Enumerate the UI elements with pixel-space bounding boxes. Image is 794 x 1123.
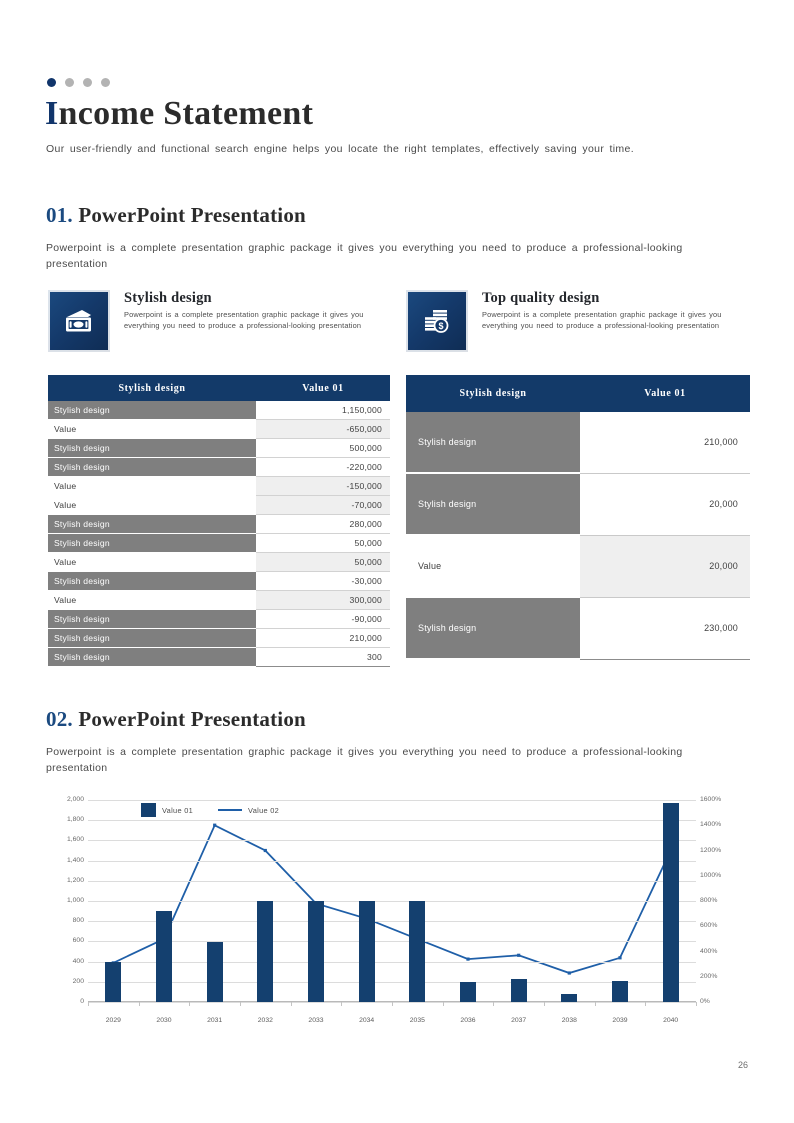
chart-bar (156, 911, 172, 1002)
table-row: Value-650,000 (48, 420, 390, 439)
chart-gridline (88, 800, 696, 801)
chart-y-tick-label: 1,400 (46, 857, 84, 864)
table-cell-label: Value (48, 477, 256, 496)
chart-y2-tick-label: 1000% (700, 872, 746, 879)
table-cell-value: 210,000 (580, 412, 750, 473)
chart-gridline (88, 962, 696, 963)
table-row: Stylish design280,000 (48, 515, 390, 534)
chart-y2-tick-label: 200% (700, 973, 746, 980)
feature-card-stylish-design: Stylish design Powerpoint is a complete … (48, 290, 393, 360)
progress-dot-2 (65, 78, 74, 87)
table-cell-label: Value (48, 496, 256, 515)
feature-card-left-body: Stylish design Powerpoint is a complete … (124, 290, 392, 331)
chart-x-tick-label: 2029 (88, 1017, 139, 1024)
chart-gridline (88, 982, 696, 983)
chart-line-marker (466, 958, 469, 961)
table-cell-value: 300 (256, 648, 390, 667)
chart-gridline (88, 941, 696, 942)
table-row: Stylish design230,000 (406, 597, 750, 659)
chart-x-tick-label: 2035 (392, 1017, 443, 1024)
table-cell-label: Stylish design (48, 629, 256, 648)
chart-y-tick-label: 1,200 (46, 877, 84, 884)
table-cell-value: -650,000 (256, 420, 390, 439)
chart-line-marker (264, 849, 267, 852)
chart-x-tick-label: 2036 (443, 1017, 494, 1024)
chart-y-tick-label: 2,000 (46, 796, 84, 803)
table-cell-value: -30,000 (256, 572, 390, 591)
table-cell-label: Value (48, 420, 256, 439)
page-subtitle: Our user-friendly and functional search … (46, 143, 746, 155)
chart-x-tickmark (139, 1002, 140, 1006)
chart-y-tick-label: 1,000 (46, 897, 84, 904)
chart-x-tick-label: 2031 (189, 1017, 240, 1024)
progress-dot-4 (101, 78, 110, 87)
chart-gridline (88, 921, 696, 922)
chart-x-tickmark (189, 1002, 190, 1006)
chart-y-tick-label: 1,800 (46, 816, 84, 823)
combo-chart: Value 01 Value 02 02004006008001,0001,20… (46, 795, 746, 1030)
chart-y2-tick-label: 1600% (700, 796, 746, 803)
chart-x-tick-label: 2038 (544, 1017, 595, 1024)
table-right-header-row: Stylish design Value 01 (406, 375, 750, 412)
table-right-header-label: Stylish design (406, 375, 580, 412)
table-row: Stylish design300 (48, 648, 390, 667)
chart-bar (663, 803, 679, 1002)
chart-y2-tick-label: 1400% (700, 821, 746, 828)
table-left-header-row: Stylish design Value 01 (48, 375, 390, 401)
table-row: Value300,000 (48, 591, 390, 610)
chart-gridline (88, 861, 696, 862)
table-row: Stylish design1,150,000 (48, 401, 390, 420)
chart-bar (612, 981, 628, 1002)
chart-x-tickmark (696, 1002, 697, 1006)
progress-dot-1 (47, 78, 56, 87)
table-cell-value: 50,000 (256, 553, 390, 572)
chart-x-tick-label: 2037 (493, 1017, 544, 1024)
chart-x-tickmark (341, 1002, 342, 1006)
chart-x-tickmark (240, 1002, 241, 1006)
table-cell-label: Stylish design (48, 401, 256, 420)
chart-x-tick-label: 2034 (341, 1017, 392, 1024)
table-row: Stylish design500,000 (48, 439, 390, 458)
table-row: Stylish design-30,000 (48, 572, 390, 591)
table-row: Stylish design50,000 (48, 534, 390, 553)
chart-y-tick-label: 600 (46, 937, 84, 944)
chart-x-tickmark (443, 1002, 444, 1006)
table-cell-value: 300,000 (256, 591, 390, 610)
chart-x-tick-label: 2032 (240, 1017, 291, 1024)
section-01-number: 01. (46, 203, 73, 227)
chart-y-tick-label: 800 (46, 917, 84, 924)
feature-card-top-quality-design: $ Top quality design Powerpoint is a com… (406, 290, 751, 360)
table-cell-value: 20,000 (580, 473, 750, 535)
chart-y2-tick-label: 1200% (700, 847, 746, 854)
chart-gridline (88, 840, 696, 841)
chart-y2-tick-label: 800% (700, 897, 746, 904)
table-cell-label: Stylish design (48, 458, 256, 477)
table-row: Stylish design210,000 (406, 412, 750, 473)
chart-y-tick-label: 400 (46, 958, 84, 965)
table-cell-label: Stylish design (48, 610, 256, 629)
section-02-title: PowerPoint Presentation (78, 707, 306, 731)
chart-bar (359, 901, 375, 1002)
chart-bar (511, 979, 527, 1002)
table-cell-value: 20,000 (580, 535, 750, 597)
slide-progress-dots (47, 78, 110, 87)
table-cell-label: Value (48, 553, 256, 572)
table-cell-value: 210,000 (256, 629, 390, 648)
coin-stack-dollar-icon: $ (406, 290, 468, 352)
chart-y2-tick-label: 600% (700, 922, 746, 929)
feature-card-left-title: Stylish design (124, 290, 392, 307)
chart-plot-area (88, 800, 696, 1002)
chart-x-tickmark (595, 1002, 596, 1006)
chart-x-tick-label: 2033 (291, 1017, 342, 1024)
table-left-header-value: Value 01 (256, 375, 390, 401)
money-banknote-icon (48, 290, 110, 352)
table-cell-value: -220,000 (256, 458, 390, 477)
chart-x-tickmark (392, 1002, 393, 1006)
chart-gridline (88, 881, 696, 882)
table-right-header-value: Value 01 (580, 375, 750, 412)
chart-line-path (113, 825, 670, 973)
chart-x-tick-label: 2030 (139, 1017, 190, 1024)
section-02-number: 02. (46, 707, 73, 731)
chart-x-tickmark (493, 1002, 494, 1006)
table-row: Stylish design20,000 (406, 473, 750, 535)
chart-y-tick-label: 1,600 (46, 836, 84, 843)
income-table-right: Stylish design Value 01 Stylish design21… (406, 375, 750, 660)
table-cell-value: -150,000 (256, 477, 390, 496)
chart-line-marker (618, 956, 621, 959)
table-cell-value: 50,000 (256, 534, 390, 553)
table-cell-label: Value (406, 535, 580, 597)
page-title: Income Statement (45, 95, 313, 133)
feature-card-right-body: Top quality design Powerpoint is a compl… (482, 290, 750, 331)
feature-card-right-title: Top quality design (482, 290, 750, 307)
chart-y2-tick-label: 400% (700, 948, 746, 955)
table-row: Stylish design-90,000 (48, 610, 390, 629)
table-row: Stylish design-220,000 (48, 458, 390, 477)
chart-bar (308, 901, 324, 1002)
table-cell-label: Stylish design (48, 572, 256, 591)
chart-y-tick-label: 200 (46, 978, 84, 985)
chart-bar (460, 982, 476, 1002)
table-row: Value-70,000 (48, 496, 390, 515)
table-cell-value: 500,000 (256, 439, 390, 458)
chart-y2-tick-label: 0% (700, 998, 746, 1005)
page-number: 26 (738, 1060, 748, 1070)
section-02-heading: 02. PowerPoint Presentation (46, 707, 306, 732)
table-cell-label: Stylish design (48, 439, 256, 458)
table-row: Value50,000 (48, 553, 390, 572)
table-cell-label: Stylish design (406, 412, 580, 473)
section-01-description: Powerpoint is a complete presentation gr… (46, 240, 746, 272)
section-02-description: Powerpoint is a complete presentation gr… (46, 744, 746, 776)
chart-line-marker (213, 824, 216, 827)
feature-card-left-text: Powerpoint is a complete presentation gr… (124, 310, 392, 331)
progress-dot-3 (83, 78, 92, 87)
table-row: Value-150,000 (48, 477, 390, 496)
chart-gridline (88, 820, 696, 821)
slide-page: Income Statement Our user-friendly and f… (0, 0, 794, 1123)
table-cell-value: 1,150,000 (256, 401, 390, 420)
chart-x-tickmark (544, 1002, 545, 1006)
table-cell-value: -70,000 (256, 496, 390, 515)
chart-x-tickmark (291, 1002, 292, 1006)
table-cell-label: Stylish design (406, 597, 580, 659)
section-01-heading: 01. PowerPoint Presentation (46, 203, 306, 228)
chart-x-tick-label: 2040 (645, 1017, 696, 1024)
table-row: Stylish design210,000 (48, 629, 390, 648)
table-cell-label: Stylish design (48, 534, 256, 553)
table-cell-value: -90,000 (256, 610, 390, 629)
chart-line-marker (568, 971, 571, 974)
table-cell-value: 280,000 (256, 515, 390, 534)
table-cell-label: Value (48, 591, 256, 610)
chart-bar (257, 901, 273, 1002)
chart-bar (105, 962, 121, 1002)
svg-text:$: $ (438, 321, 443, 331)
chart-bar (207, 942, 223, 1002)
section-01-title: PowerPoint Presentation (78, 203, 306, 227)
chart-line-marker (517, 954, 520, 957)
table-cell-value: 230,000 (580, 597, 750, 659)
chart-bar (561, 994, 577, 1002)
chart-x-tickmark (645, 1002, 646, 1006)
chart-bar (409, 901, 425, 1002)
feature-card-right-text: Powerpoint is a complete presentation gr… (482, 310, 750, 331)
chart-y-tick-label: 0 (46, 998, 84, 1005)
chart-x-tick-label: 2039 (595, 1017, 646, 1024)
chart-x-tickmark (88, 1002, 89, 1006)
table-cell-label: Stylish design (406, 473, 580, 535)
page-title-initial: I (45, 95, 59, 132)
table-left-header-label: Stylish design (48, 375, 256, 401)
income-table-left: Stylish design Value 01 Stylish design1,… (48, 375, 390, 667)
table-row: Value20,000 (406, 535, 750, 597)
chart-gridline (88, 901, 696, 902)
table-cell-label: Stylish design (48, 515, 256, 534)
table-cell-label: Stylish design (48, 648, 256, 667)
page-title-rest: ncome Statement (59, 95, 314, 132)
